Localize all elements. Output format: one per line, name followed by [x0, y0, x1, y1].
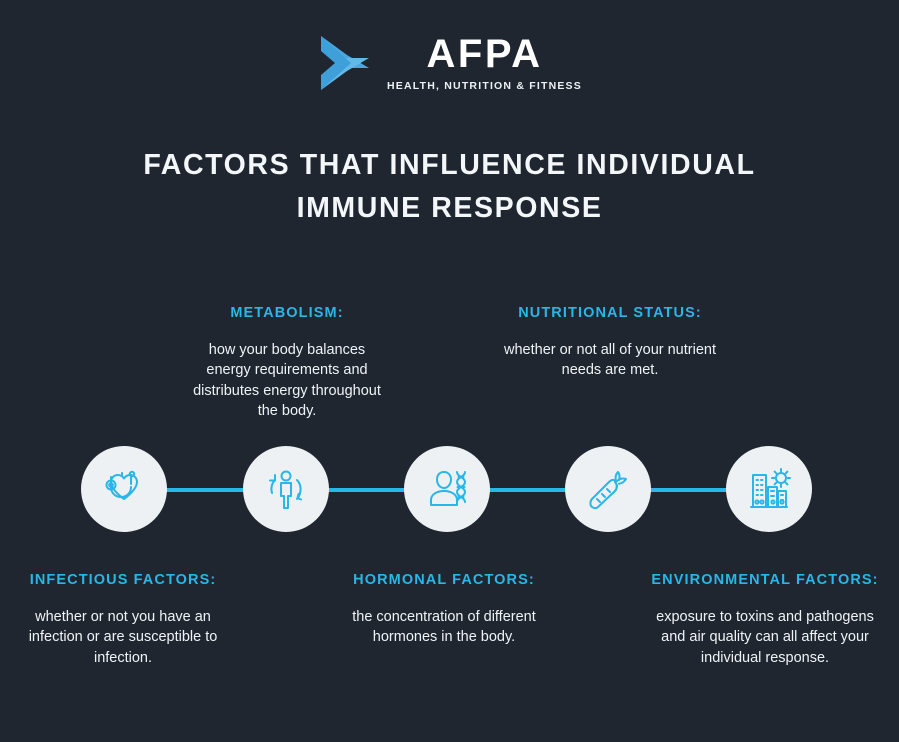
brand-name: AFPA — [427, 34, 543, 74]
person-metabolism-arrows-icon — [260, 463, 312, 515]
brand-logo: AFPA HEALTH, NUTRITION & FITNESS — [0, 34, 899, 92]
person-dna-icon — [421, 463, 473, 515]
factor-infectious: INFECTIOUS FACTORS: whether or not you h… — [13, 571, 233, 668]
page-title-line1: FACTORS THAT INFLUENCE INDIVIDUAL — [143, 149, 755, 181]
city-buildings-sun-icon — [743, 463, 795, 515]
brand-tagline: HEALTH, NUTRITION & FITNESS — [387, 80, 582, 92]
factor-metabolism-title: METABOLISM: — [187, 304, 387, 324]
page-title: FACTORS THAT INFLUENCE INDIVIDUAL IMMUNE… — [0, 144, 899, 230]
factor-environmental-title: ENVIRONMENTAL FACTORS: — [645, 571, 885, 591]
timeline-node-metabolism[interactable] — [243, 446, 329, 532]
factor-nutritional-title: NUTRITIONAL STATUS: — [500, 304, 720, 324]
factor-environmental: ENVIRONMENTAL FACTORS: exposure to toxin… — [645, 571, 885, 668]
timeline-node-environmental[interactable] — [726, 446, 812, 532]
page-title-line2: IMMUNE RESPONSE — [297, 192, 603, 224]
stethoscope-heart-icon — [98, 463, 150, 515]
timeline-node-infectious[interactable] — [81, 446, 167, 532]
factor-metabolism: METABOLISM: how your body balances energ… — [187, 304, 387, 422]
factor-hormonal-description: the concentration of different hormones … — [333, 607, 555, 648]
factor-nutritional: NUTRITIONAL STATUS: whether or not all o… — [500, 304, 720, 381]
factor-infectious-title: INFECTIOUS FACTORS: — [13, 571, 233, 591]
timeline-node-nutritional[interactable] — [565, 446, 651, 532]
factor-infectious-description: whether or not you have an infection or … — [13, 607, 233, 669]
timeline-node-hormonal[interactable] — [404, 446, 490, 532]
factor-nutritional-description: whether or not all of your nutrient need… — [500, 340, 720, 381]
carrot-icon — [582, 463, 634, 515]
factor-environmental-description: exposure to toxins and pathogens and air… — [645, 607, 885, 669]
factor-metabolism-description: how your body balances energy requiremen… — [187, 340, 387, 422]
factors-timeline — [0, 446, 899, 534]
factor-hormonal-title: HORMONAL FACTORS: — [333, 571, 555, 591]
factor-hormonal: HORMONAL FACTORS: the concentration of d… — [333, 571, 555, 648]
afpa-chevron-logo-icon — [317, 34, 373, 92]
